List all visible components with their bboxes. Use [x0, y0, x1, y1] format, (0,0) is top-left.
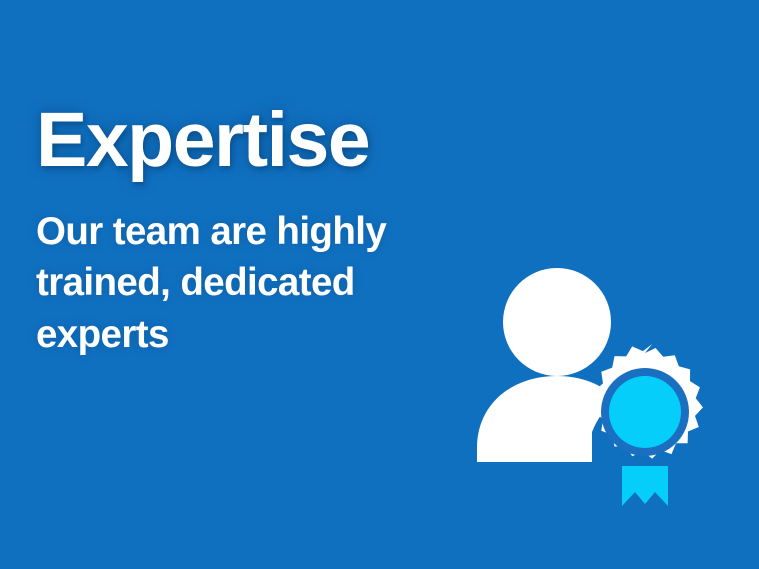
subtitle-text: Our team are highly trained, dedicated e… — [36, 178, 466, 361]
expert-person-award-badge-icon — [462, 258, 714, 520]
person-body-icon — [477, 376, 616, 462]
award-rosette-icon — [594, 344, 703, 459]
page-title: Expertise — [36, 104, 496, 178]
award-rosette-center-icon — [609, 376, 681, 448]
text-block: Expertise Our team are highly trained, d… — [36, 104, 496, 361]
slide-canvas: Expertise Our team are highly trained, d… — [0, 0, 759, 569]
person-head-icon — [503, 268, 611, 376]
award-ribbon-icon — [622, 466, 668, 506]
